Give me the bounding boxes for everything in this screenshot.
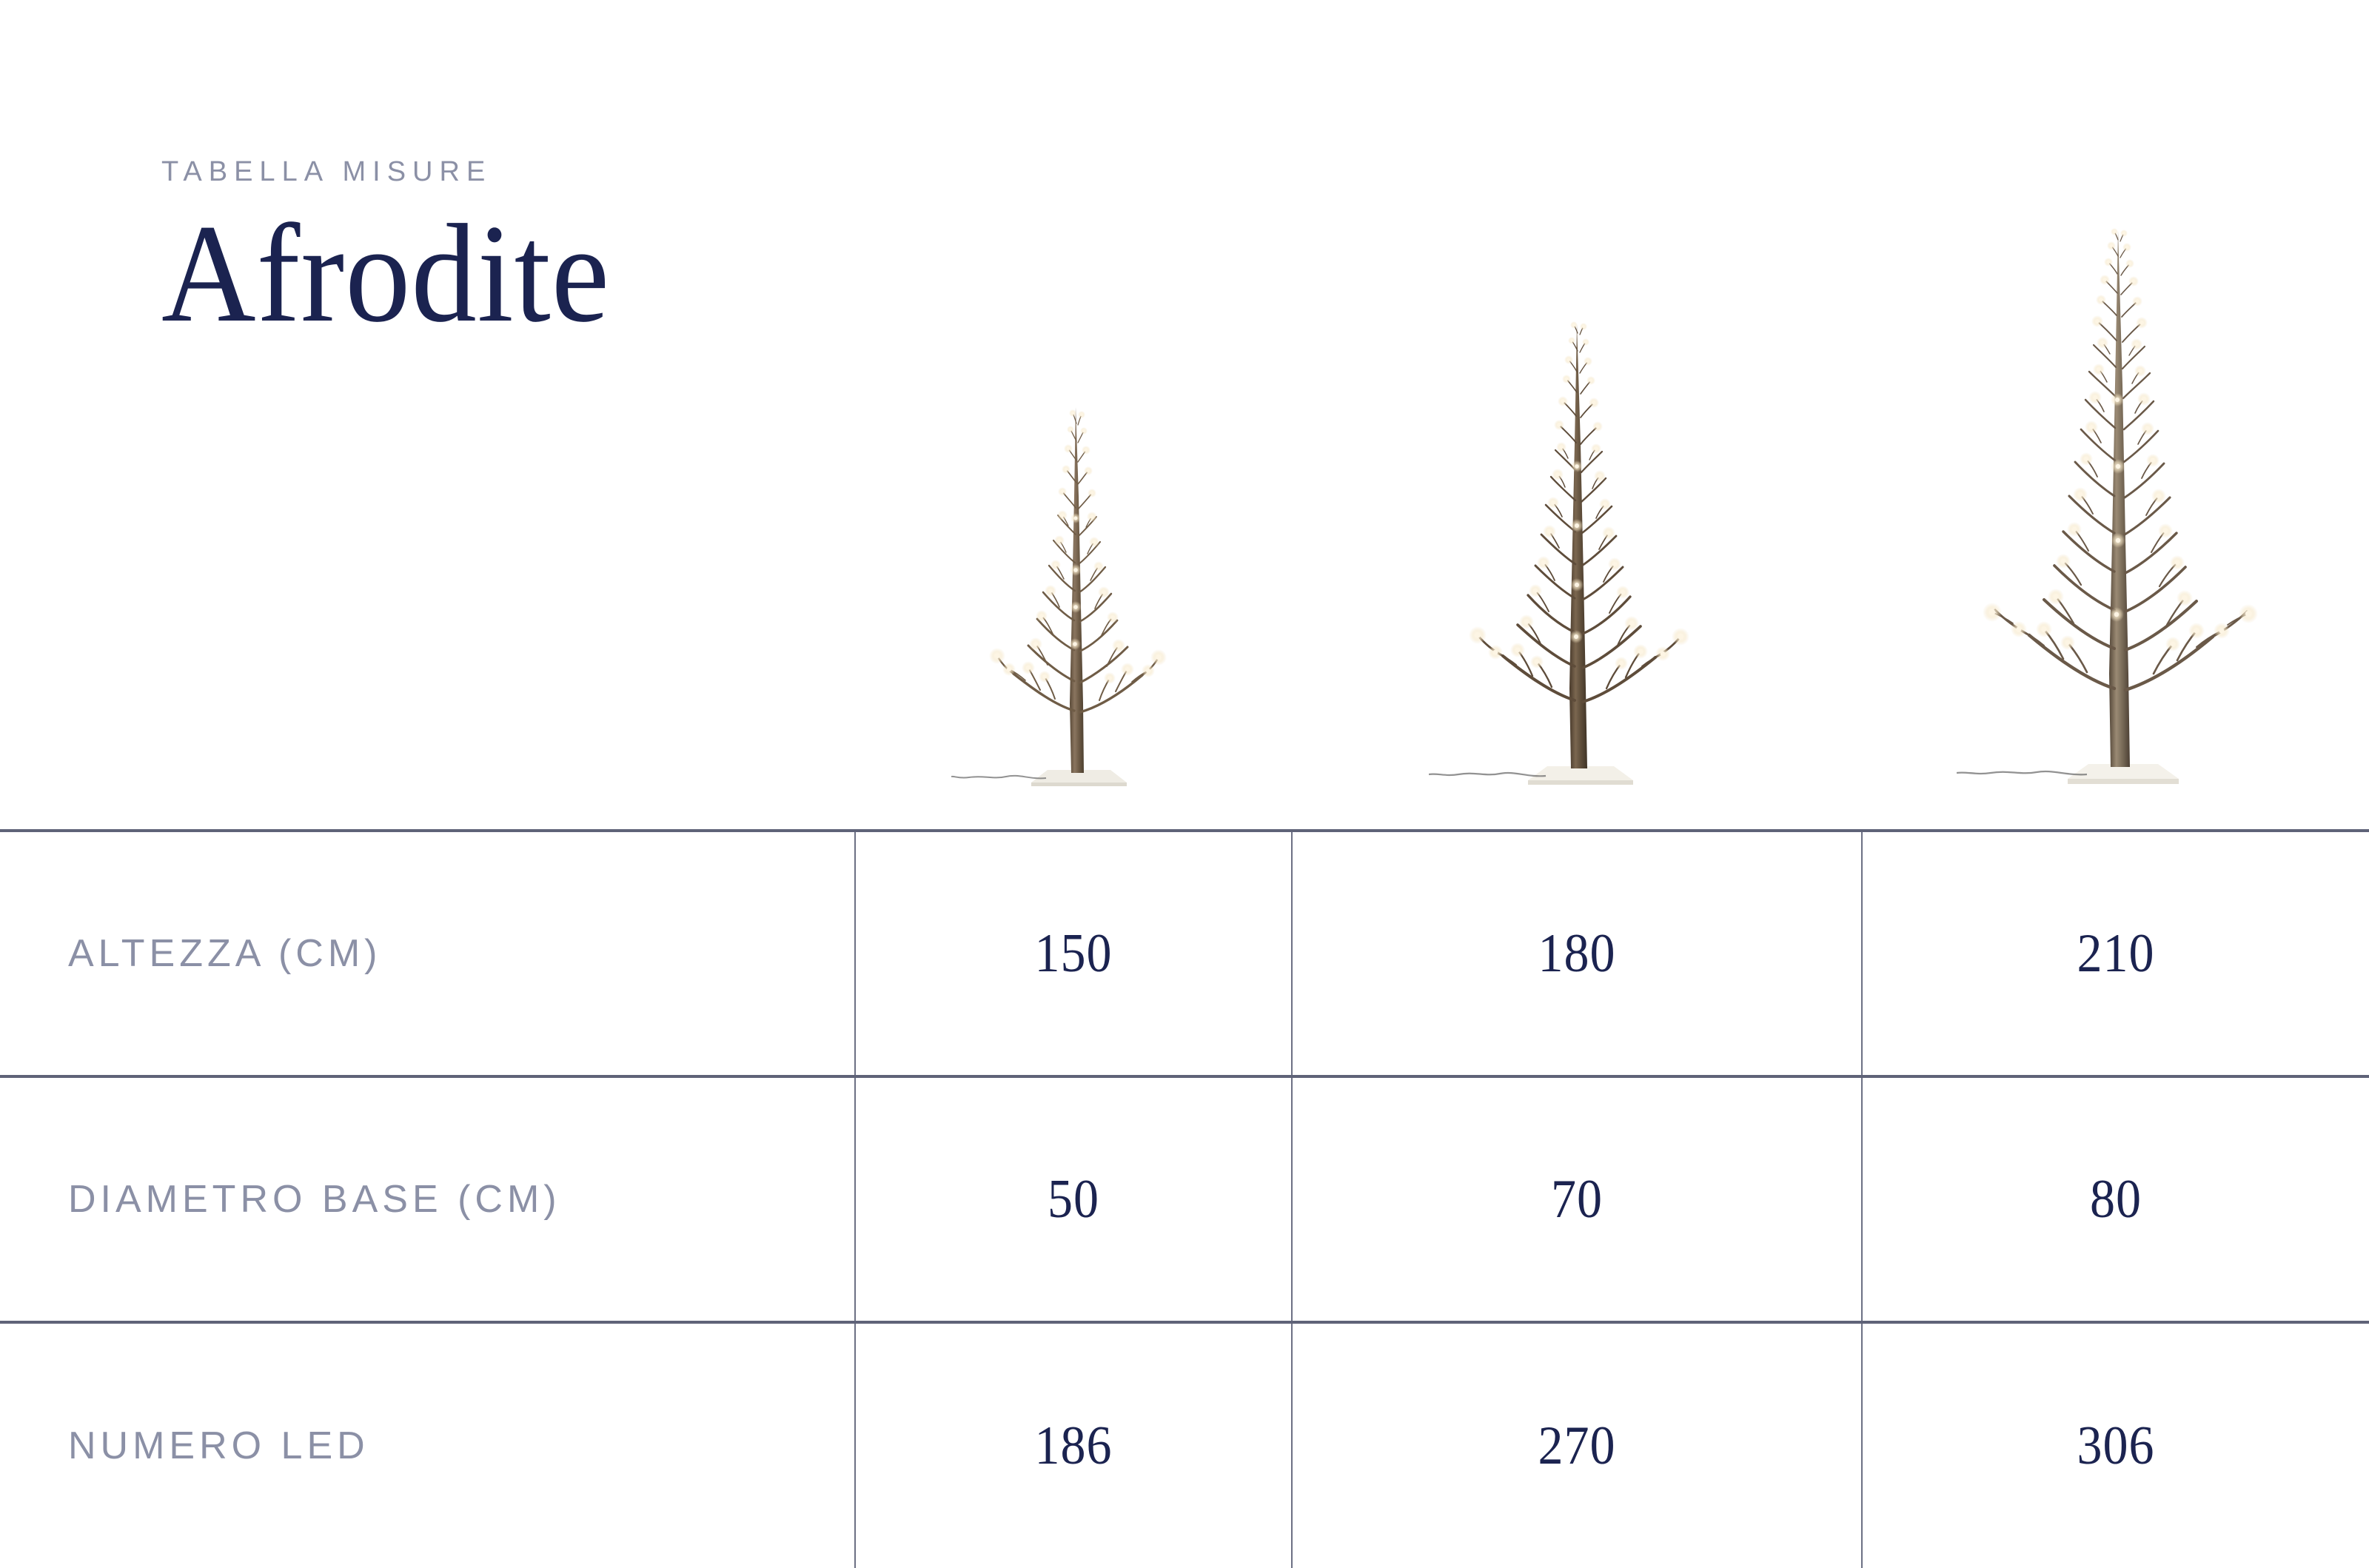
cell-altezza-150: 150 [855, 831, 1292, 1076]
measurements-table: ALTEZZA (CM) 150 180 210 DIAMETRO BASE (… [0, 829, 2369, 1568]
cell-diametro-150: 50 [855, 1076, 1292, 1322]
cell-value: 50 [1048, 1168, 1099, 1231]
product-image-row [855, 0, 2369, 829]
cell-value: 306 [2077, 1415, 2155, 1478]
cell-value: 270 [1538, 1415, 1616, 1478]
cell-led-210: 306 [1862, 1322, 2369, 1568]
cell-value: 210 [2077, 922, 2155, 985]
cell-value: 80 [2090, 1168, 2142, 1231]
row-label-altezza: ALTEZZA (CM) [0, 831, 855, 1076]
table-row: ALTEZZA (CM) 150 180 210 [0, 831, 2369, 1076]
page-eyebrow: TABELLA MISURE [161, 155, 976, 190]
power-cord-3 [1957, 771, 2087, 774]
cell-value: 70 [1551, 1168, 1603, 1231]
product-image-afrodite-180 [1292, 304, 1862, 788]
product-image-afrodite-150 [855, 385, 1292, 788]
cell-diametro-180: 70 [1292, 1076, 1862, 1322]
row-label-text: NUMERO LED [68, 1424, 369, 1468]
table-row: DIAMETRO BASE (CM) 50 70 80 [0, 1076, 2369, 1322]
cell-value: 186 [1035, 1415, 1113, 1478]
table-row: NUMERO LED 186 270 306 [0, 1322, 2369, 1568]
power-cord-1 [951, 776, 1046, 778]
power-cord-2 [1429, 773, 1546, 776]
header-block: TABELLA MISURE Afrodite [161, 155, 976, 346]
cell-led-150: 186 [855, 1322, 1292, 1568]
cell-value: 150 [1035, 922, 1113, 985]
page-title: Afrodite [161, 203, 919, 346]
row-label-diametro-base: DIAMETRO BASE (CM) [0, 1076, 855, 1322]
cell-altezza-210: 210 [1862, 831, 2369, 1076]
cell-diametro-210: 80 [1862, 1076, 2369, 1322]
cell-led-180: 270 [1292, 1322, 1862, 1568]
row-label-text: ALTEZZA (CM) [68, 931, 381, 976]
row-label-numero-led: NUMERO LED [0, 1322, 855, 1568]
albero-led-180-icon [1429, 304, 1725, 788]
albero-led-210-icon [1957, 215, 2275, 788]
product-image-afrodite-210 [1862, 215, 2369, 788]
albero-led-150-icon [951, 385, 1196, 788]
cell-value: 180 [1538, 922, 1616, 985]
row-label-text: DIAMETRO BASE (CM) [68, 1177, 561, 1222]
cell-altezza-180: 180 [1292, 831, 1862, 1076]
